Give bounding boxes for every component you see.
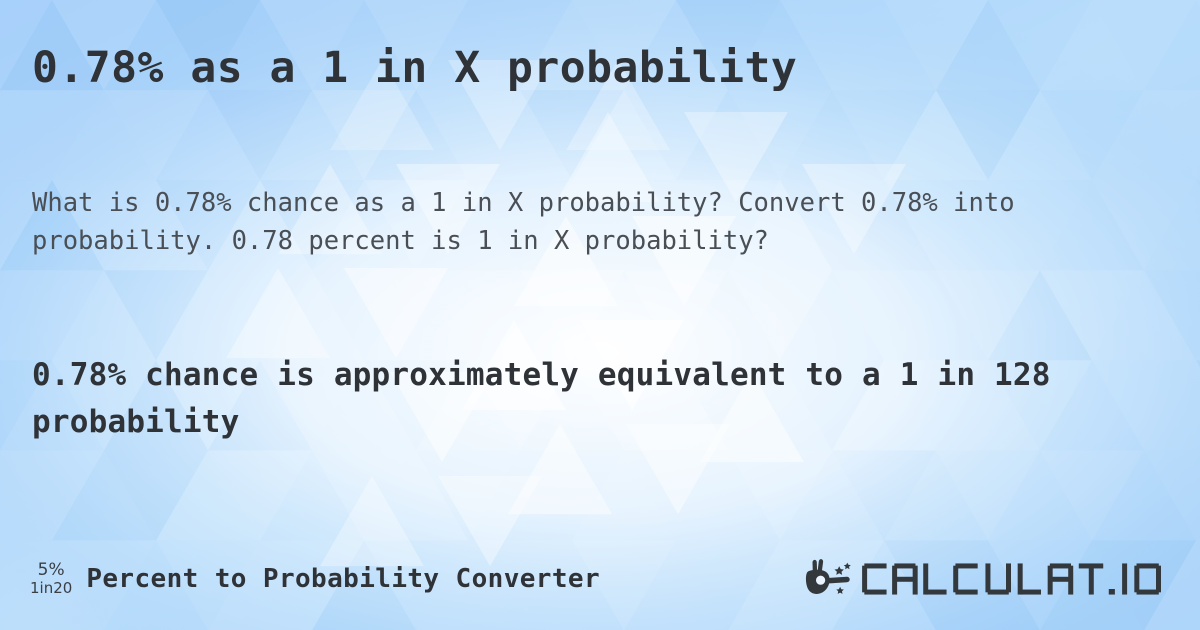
hand-ok-wand-icon <box>799 557 857 601</box>
badge-oneinx-label: 1in20 <box>30 580 72 597</box>
footer-left-group: 5% 1in20 Percent to Probability Converte… <box>0 561 600 597</box>
page-title: 0.78% as a 1 in X probability <box>32 44 1172 93</box>
footer: 5% 1in20 Percent to Probability Converte… <box>0 548 1200 610</box>
footer-right-group: CALCULAT.IO <box>799 557 1200 601</box>
page-description: What is 0.78% chance as a 1 in X probabi… <box>32 185 1182 260</box>
percent-probability-badge: 5% 1in20 <box>30 561 72 597</box>
badge-percent-label: 5% <box>38 561 65 580</box>
footer-site-title: Percent to Probability Converter <box>86 564 600 594</box>
answer-statement: 0.78% chance is approximately equivalent… <box>32 352 1182 446</box>
brand-logo-link[interactable]: CALCULAT.IO <box>799 557 1172 601</box>
brand-wordmark: CALCULAT.IO <box>861 559 1172 599</box>
